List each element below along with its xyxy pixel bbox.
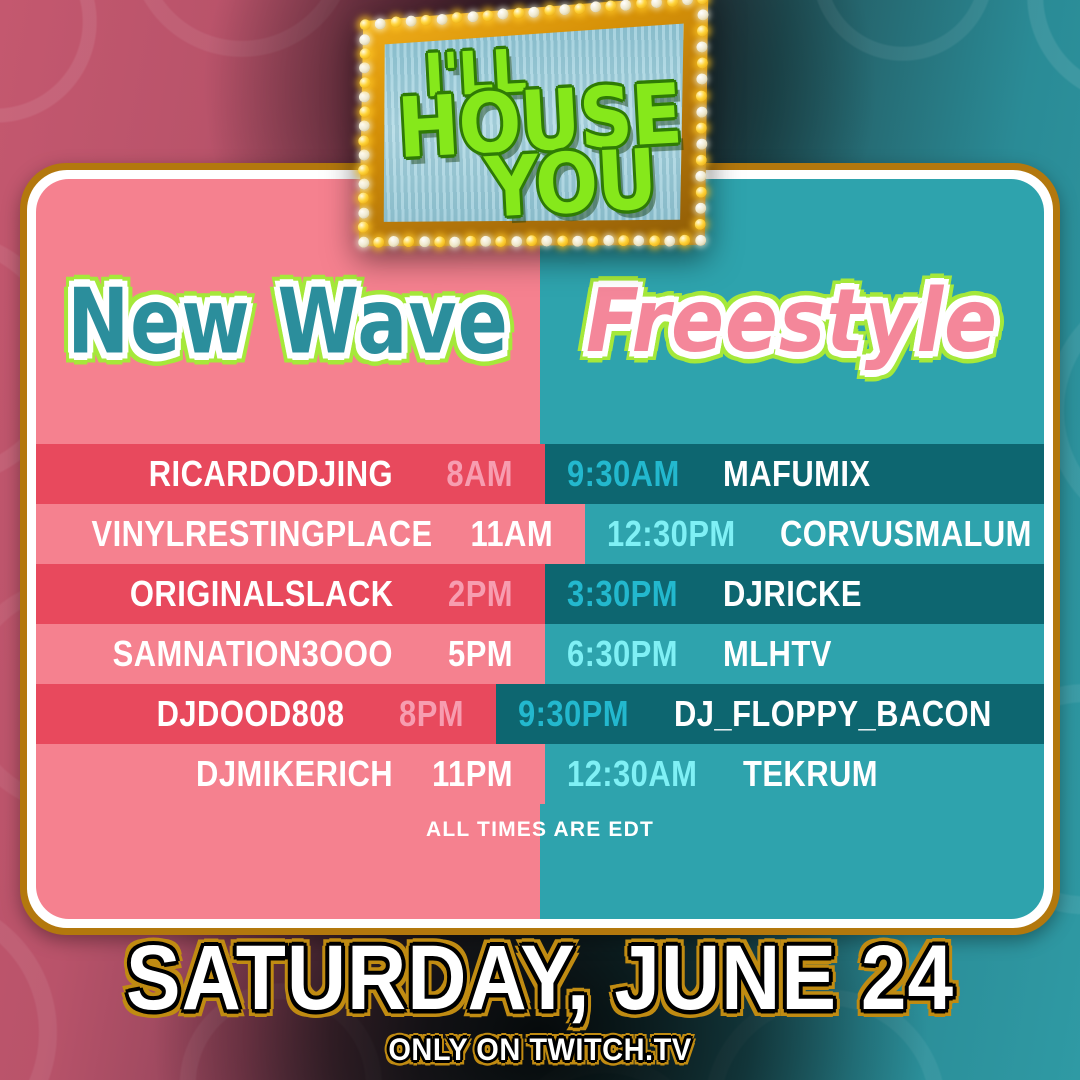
artist-name: CORVUSMALUM bbox=[780, 513, 1032, 555]
marquee-bulb bbox=[695, 170, 706, 182]
marquee-bulb bbox=[404, 236, 415, 248]
table-row: DJMIKERICH 11PM 12:30AM TEKRUM bbox=[36, 744, 1044, 804]
marquee-bulb bbox=[696, 106, 707, 118]
marquee-bulb bbox=[480, 236, 491, 248]
marquee-bulb bbox=[697, 0, 708, 5]
marquee-bulb bbox=[667, 0, 678, 7]
lineup-card: New Wave Freestyle RICARDODJING 8AM bbox=[20, 163, 1060, 935]
marquee-bulb bbox=[696, 154, 707, 166]
marquee-bulb bbox=[696, 74, 707, 86]
set-time: 11AM bbox=[470, 513, 553, 555]
marquee-bulb bbox=[498, 8, 509, 20]
card-white-border: New Wave Freestyle RICARDODJING 8AM bbox=[27, 170, 1053, 928]
marquee-bulb bbox=[679, 235, 690, 247]
set-time: 8PM bbox=[382, 693, 465, 735]
artist-name: DJMIKERICH bbox=[196, 753, 393, 795]
marquee-bulb bbox=[651, 0, 662, 8]
marquee-sign-icon: I'LL HOUSE YOU bbox=[352, 4, 716, 262]
set-time: 3:30PM bbox=[567, 573, 681, 615]
set-time: 5PM bbox=[430, 633, 513, 675]
lineup-rows: RICARDODJING 8AM 9:30AM MAFUMIX VINYLRES… bbox=[36, 444, 1044, 804]
stage-header-left: New Wave bbox=[36, 275, 540, 349]
artist-name: RICARDODJING bbox=[149, 453, 393, 495]
artist-name: DJDOOD808 bbox=[156, 693, 344, 735]
lineup-cell-right: 3:30PM DJRICKE bbox=[545, 564, 1044, 624]
marquee-bulb bbox=[358, 193, 369, 205]
lineup-cell-left: SAMNATION3OOO 5PM bbox=[36, 624, 545, 684]
marquee-bulb bbox=[421, 14, 432, 26]
event-poster: New Wave Freestyle RICARDODJING 8AM bbox=[0, 0, 1080, 1080]
stage-title-new-wave: New Wave bbox=[67, 276, 509, 366]
marquee-bulb bbox=[695, 202, 706, 214]
marquee-bulb bbox=[649, 235, 660, 247]
marquee-bulb bbox=[636, 0, 647, 10]
set-time: 12:30AM bbox=[567, 753, 697, 795]
table-row: VINYLRESTINGPLACE 11AM 12:30PM CORVUSMAL… bbox=[36, 504, 1044, 564]
artist-name: MLHTV bbox=[723, 633, 832, 675]
marquee-bulb bbox=[697, 41, 708, 53]
marquee-bulb bbox=[359, 77, 370, 89]
table-row: DJDOOD808 8PM 9:30PM DJ_FLOPPY_BACON bbox=[36, 684, 1044, 744]
marquee-bulb bbox=[436, 13, 447, 25]
marquee-bulb bbox=[419, 236, 430, 248]
artist-name: TEKRUM bbox=[743, 753, 878, 795]
marquee-bulb bbox=[358, 135, 369, 147]
artist-name: VINYLRESTINGPLACE bbox=[92, 513, 433, 555]
event-date: SATURDAY, JUNE 24 bbox=[126, 933, 954, 1025]
lineup-cell-left: ORIGINALSLACK 2PM bbox=[36, 564, 545, 624]
timezone-note: ALL TIMES ARE EDT bbox=[426, 818, 654, 842]
marquee-bulbs bbox=[348, 0, 719, 272]
marquee-bulb bbox=[605, 0, 616, 12]
set-time: 12:30PM bbox=[607, 513, 736, 555]
marquee-bulb bbox=[358, 164, 369, 176]
marquee-bulb bbox=[557, 235, 568, 247]
marquee-bulb bbox=[528, 6, 539, 18]
marquee-bulb bbox=[697, 9, 708, 21]
marquee-bulb bbox=[696, 122, 707, 134]
marquee-bulb bbox=[695, 219, 706, 231]
footer-block: SATURDAY, JUNE 24 ONLY ON TWITCH.TV bbox=[0, 938, 1080, 1065]
marquee-bulb bbox=[449, 236, 460, 248]
artist-name: ORIGINALSLACK bbox=[129, 573, 393, 615]
marquee-bulb bbox=[697, 58, 708, 70]
lineup-cell-right: 6:30PM MLHTV bbox=[545, 624, 1044, 684]
marquee-bulb bbox=[695, 235, 706, 247]
table-row: SAMNATION3OOO 5PM 6:30PM MLHTV bbox=[36, 624, 1044, 684]
lineup-cell-left: DJDOOD808 8PM bbox=[36, 684, 496, 744]
marquee-bulb bbox=[358, 178, 369, 190]
marquee-bulb bbox=[541, 235, 552, 247]
set-time: 9:30PM bbox=[518, 693, 632, 735]
set-time: 8AM bbox=[430, 453, 513, 495]
marquee-bulb bbox=[603, 235, 614, 247]
marquee-bulb bbox=[587, 235, 598, 247]
marquee-bulb bbox=[590, 1, 601, 13]
marquee-bulb bbox=[359, 48, 370, 60]
marquee-bulb bbox=[544, 5, 555, 17]
marquee-bulb bbox=[359, 19, 370, 31]
lineup-cell-right: 9:30AM MAFUMIX bbox=[545, 444, 1044, 504]
marquee-bulb bbox=[572, 235, 583, 247]
marquee-bulb bbox=[621, 0, 632, 11]
marquee-bulb bbox=[664, 235, 675, 247]
marquee-bulb bbox=[482, 10, 493, 22]
marquee-bulb bbox=[358, 236, 369, 248]
marquee-bulb bbox=[359, 62, 370, 74]
marquee-bulb bbox=[406, 16, 417, 28]
marquee-bulb bbox=[574, 3, 585, 15]
card-body: New Wave Freestyle RICARDODJING 8AM bbox=[36, 179, 1044, 919]
marquee-bulb bbox=[526, 235, 537, 247]
marquee-bulb bbox=[358, 149, 369, 161]
lineup-cell-right: 12:30AM TEKRUM bbox=[545, 744, 1044, 804]
broadcast-channel: ONLY ON TWITCH.TV bbox=[388, 1035, 691, 1067]
lineup-cell-right: 12:30PM CORVUSMALUM bbox=[585, 504, 1044, 564]
marquee-bulb bbox=[452, 12, 463, 24]
artist-name: MAFUMIX bbox=[723, 453, 870, 495]
artist-name: DJRICKE bbox=[723, 573, 862, 615]
table-row: RICARDODJING 8AM 9:30AM MAFUMIX bbox=[36, 444, 1044, 504]
marquee-bulb bbox=[359, 34, 370, 46]
marquee-bulb bbox=[696, 90, 707, 102]
marquee-bulb bbox=[390, 17, 401, 29]
marquee-bulb bbox=[388, 236, 399, 248]
marquee-bulb bbox=[682, 0, 693, 6]
lineup-cell-left: RICARDODJING 8AM bbox=[36, 444, 545, 504]
marquee-bulb bbox=[359, 106, 370, 118]
marquee-bulb bbox=[696, 138, 707, 150]
set-time: 2PM bbox=[430, 573, 513, 615]
set-time: 9:30AM bbox=[567, 453, 681, 495]
marquee-bulb bbox=[358, 222, 369, 234]
marquee-bulb bbox=[618, 235, 629, 247]
lineup-cell-left: DJMIKERICH 11PM bbox=[36, 744, 545, 804]
marquee-bulb bbox=[695, 186, 706, 198]
marquee-bulb bbox=[434, 236, 445, 248]
marquee-bulb bbox=[359, 91, 370, 103]
artist-name: DJ_FLOPPY_BACON bbox=[674, 693, 992, 735]
marquee-bulb bbox=[373, 236, 384, 248]
marquee-bulb bbox=[375, 18, 386, 30]
marquee-bulb bbox=[697, 25, 708, 37]
table-row: ORIGINALSLACK 2PM 3:30PM DJRICKE bbox=[36, 564, 1044, 624]
artist-name: SAMNATION3OOO bbox=[113, 633, 393, 675]
lineup-cell-left: VINYLRESTINGPLACE 11AM bbox=[36, 504, 585, 564]
marquee-bulb bbox=[511, 236, 522, 248]
marquee-bulb bbox=[465, 236, 476, 248]
stage-header-right: Freestyle bbox=[540, 273, 1044, 351]
marquee-bulb bbox=[495, 236, 506, 248]
stage-title-freestyle: Freestyle bbox=[586, 278, 998, 365]
marquee-bulb bbox=[358, 207, 369, 219]
marquee-bulb bbox=[467, 11, 478, 23]
marquee-bulb bbox=[513, 7, 524, 19]
set-time: 6:30PM bbox=[567, 633, 681, 675]
lineup-cell-right: 9:30PM DJ_FLOPPY_BACON bbox=[496, 684, 1044, 744]
marquee-bulb bbox=[359, 120, 370, 132]
set-time: 11PM bbox=[430, 753, 513, 795]
marquee-bulb bbox=[633, 235, 644, 247]
marquee-bulb bbox=[559, 4, 570, 16]
